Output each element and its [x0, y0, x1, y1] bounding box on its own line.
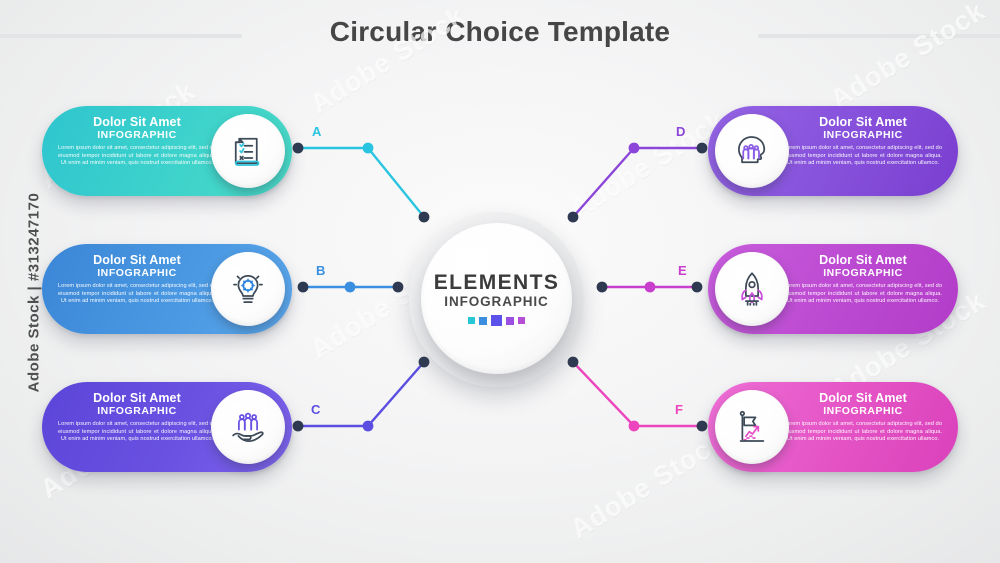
connector-label-a: A [312, 124, 322, 139]
card-d-title: Dolor Sit Amet [784, 115, 942, 129]
connector-dot-b-outer [298, 282, 309, 293]
lightbulb-gear-icon [227, 268, 269, 310]
card-d-subtitle: INFOGRAPHIC [784, 129, 942, 142]
card-e-subtitle: INFOGRAPHIC [784, 267, 942, 280]
connector-dot-a-mid [363, 143, 374, 154]
card-c-subtitle: INFOGRAPHIC [58, 405, 216, 418]
connector-dot-f-inner [568, 357, 579, 368]
center-square-4 [506, 317, 514, 325]
card-a-title: Dolor Sit Amet [58, 115, 216, 129]
center-circle[interactable]: ELEMENTS INFOGRAPHIC [409, 212, 584, 387]
card-e-description: Lorem ipsum dolor sit amet, consectetur … [784, 283, 942, 306]
card-f-title: Dolor Sit Amet [784, 391, 942, 405]
card-d[interactable]: Dolor Sit Amet INFOGRAPHIC Lorem ipsum d… [708, 106, 958, 196]
card-c-icon-badge [211, 390, 285, 464]
checklist-document-icon [227, 130, 269, 172]
center-square-3 [491, 315, 502, 326]
connector-line-d [573, 148, 702, 217]
center-circle-inner: ELEMENTS INFOGRAPHIC [421, 223, 572, 374]
center-square-2 [479, 317, 487, 325]
center-title: ELEMENTS [434, 271, 560, 294]
connector-dot-a-inner [419, 212, 430, 223]
center-square-row [468, 315, 525, 326]
connector-dot-f-mid [629, 421, 640, 432]
connector-label-e: E [678, 263, 687, 278]
card-b-description: Lorem ipsum dolor sit amet, consectetur … [58, 283, 216, 306]
connector-dot-c-inner [419, 357, 430, 368]
connector-label-c: C [311, 402, 321, 417]
card-b[interactable]: Dolor Sit Amet INFOGRAPHIC Lorem ipsum d… [42, 244, 292, 334]
card-e-icon-badge [715, 252, 789, 326]
connector-label-d: D [676, 124, 686, 139]
card-d-description: Lorem ipsum dolor sit amet, consectetur … [784, 145, 942, 168]
connector-dot-e-inner [597, 282, 608, 293]
hand-holding-people-icon [227, 406, 269, 448]
center-subtitle: INFOGRAPHIC [444, 294, 548, 309]
card-a-description: Lorem ipsum dolor sit amet, consectetur … [58, 145, 216, 168]
connector-label-f: F [675, 402, 683, 417]
card-f-description: Lorem ipsum dolor sit amet, consectetur … [784, 421, 942, 444]
infographic-canvas: Circular Choice Template Adobe Stock Ado… [0, 0, 1000, 563]
connector-dot-f-outer [697, 421, 708, 432]
card-c-title: Dolor Sit Amet [58, 391, 216, 405]
card-f[interactable]: Dolor Sit Amet INFOGRAPHIC Lorem ipsum d… [708, 382, 958, 472]
head-people-icon [731, 130, 773, 172]
rocket-icon [731, 268, 773, 310]
flag-growth-chart-icon [731, 406, 773, 448]
connector-dot-d-mid [629, 143, 640, 154]
card-a[interactable]: Dolor Sit Amet INFOGRAPHIC Lorem ipsum d… [42, 106, 292, 196]
card-f-icon-badge [715, 390, 789, 464]
connector-label-b: B [316, 263, 326, 278]
card-b-subtitle: INFOGRAPHIC [58, 267, 216, 280]
center-square-5 [518, 317, 525, 324]
card-f-subtitle: INFOGRAPHIC [784, 405, 942, 418]
connector-dot-b-inner [393, 282, 404, 293]
connector-dot-c-outer [293, 421, 304, 432]
connector-dot-e-outer [692, 282, 703, 293]
connector-dot-a-outer [293, 143, 304, 154]
connector-dot-d-outer [697, 143, 708, 154]
connector-line-a [298, 148, 424, 217]
card-a-icon-badge [211, 114, 285, 188]
connector-dot-b-mid [345, 282, 356, 293]
center-square-1 [468, 317, 475, 324]
card-d-icon-badge [715, 114, 789, 188]
card-b-icon-badge [211, 252, 285, 326]
card-b-title: Dolor Sit Amet [58, 253, 216, 267]
connector-dot-e-mid [645, 282, 656, 293]
card-c[interactable]: Dolor Sit Amet INFOGRAPHIC Lorem ipsum d… [42, 382, 292, 472]
card-e[interactable]: Dolor Sit Amet INFOGRAPHIC Lorem ipsum d… [708, 244, 958, 334]
card-e-title: Dolor Sit Amet [784, 253, 942, 267]
connector-dot-d-inner [568, 212, 579, 223]
card-a-subtitle: INFOGRAPHIC [58, 129, 216, 142]
connector-dot-c-mid [363, 421, 374, 432]
card-c-description: Lorem ipsum dolor sit amet, consectetur … [58, 421, 216, 444]
